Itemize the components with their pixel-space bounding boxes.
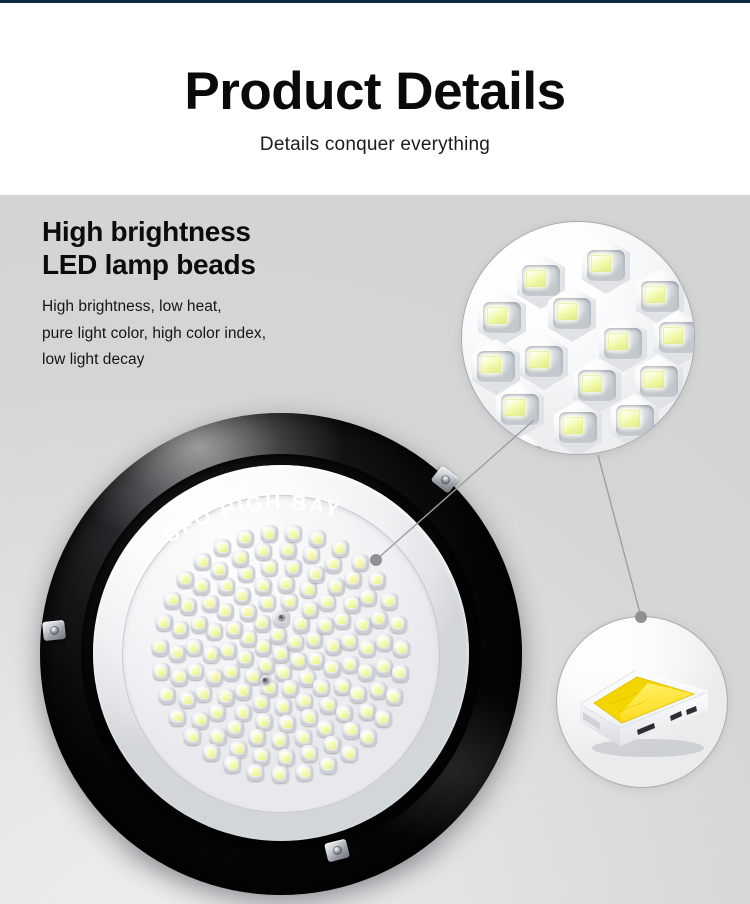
feature-heading-line-1: High brightness	[42, 215, 372, 248]
product-scene: High brightness LED lamp beads High brig…	[0, 195, 750, 904]
led-beads-closeup-circle	[461, 221, 695, 455]
led-bead-die	[481, 356, 501, 373]
ufo-high-bay-lamp: UFO HIGH BAY	[40, 413, 522, 895]
led-bead-die	[582, 375, 602, 392]
feature-heading: High brightness LED lamp beads	[42, 215, 372, 281]
page-title: Product Details	[0, 65, 750, 118]
led-bead-closeup	[497, 434, 553, 455]
feature-desc-line-1: High brightness, low heat,	[42, 294, 372, 321]
feature-desc-line-3: low light decay	[42, 347, 372, 374]
smd-led-chip	[574, 652, 714, 756]
led-bead-die	[563, 417, 583, 434]
led-bead-closeup	[492, 382, 548, 438]
led-bead-closeup	[550, 400, 606, 455]
led-bead-die	[591, 255, 611, 272]
page-header: Product Details Details conquer everythi…	[0, 3, 750, 195]
feature-heading-line-2: LED lamp beads	[42, 248, 372, 281]
led-bead-die	[663, 327, 683, 344]
led-bead-die	[505, 399, 525, 416]
led-bead-closeup	[607, 393, 663, 449]
smd-chip-svg	[574, 652, 714, 756]
smd-chip-closeup-circle	[556, 616, 728, 788]
led-bead-die	[644, 371, 664, 388]
feature-desc-line-2: pure light color, high color index,	[42, 321, 372, 348]
led-bead-die	[529, 351, 549, 368]
feature-copy-block: High brightness LED lamp beads High brig…	[42, 215, 372, 374]
led-bead-die	[526, 270, 546, 287]
feature-description: High brightness, low heat, pure light co…	[42, 294, 372, 374]
page-subtitle: Details conquer everything	[0, 134, 750, 156]
led-bead-die	[645, 286, 665, 303]
led-bead-die	[620, 410, 640, 427]
lamp-brand-text: UFO HIGH BAY	[160, 491, 344, 548]
led-bead-die	[487, 307, 507, 324]
led-bead-die	[557, 303, 577, 320]
led-bead-die	[608, 333, 628, 350]
callout-line-chip	[598, 455, 641, 617]
rim-clip-left	[42, 620, 66, 641]
product-details-page: Product Details Details conquer everythi…	[0, 0, 750, 904]
